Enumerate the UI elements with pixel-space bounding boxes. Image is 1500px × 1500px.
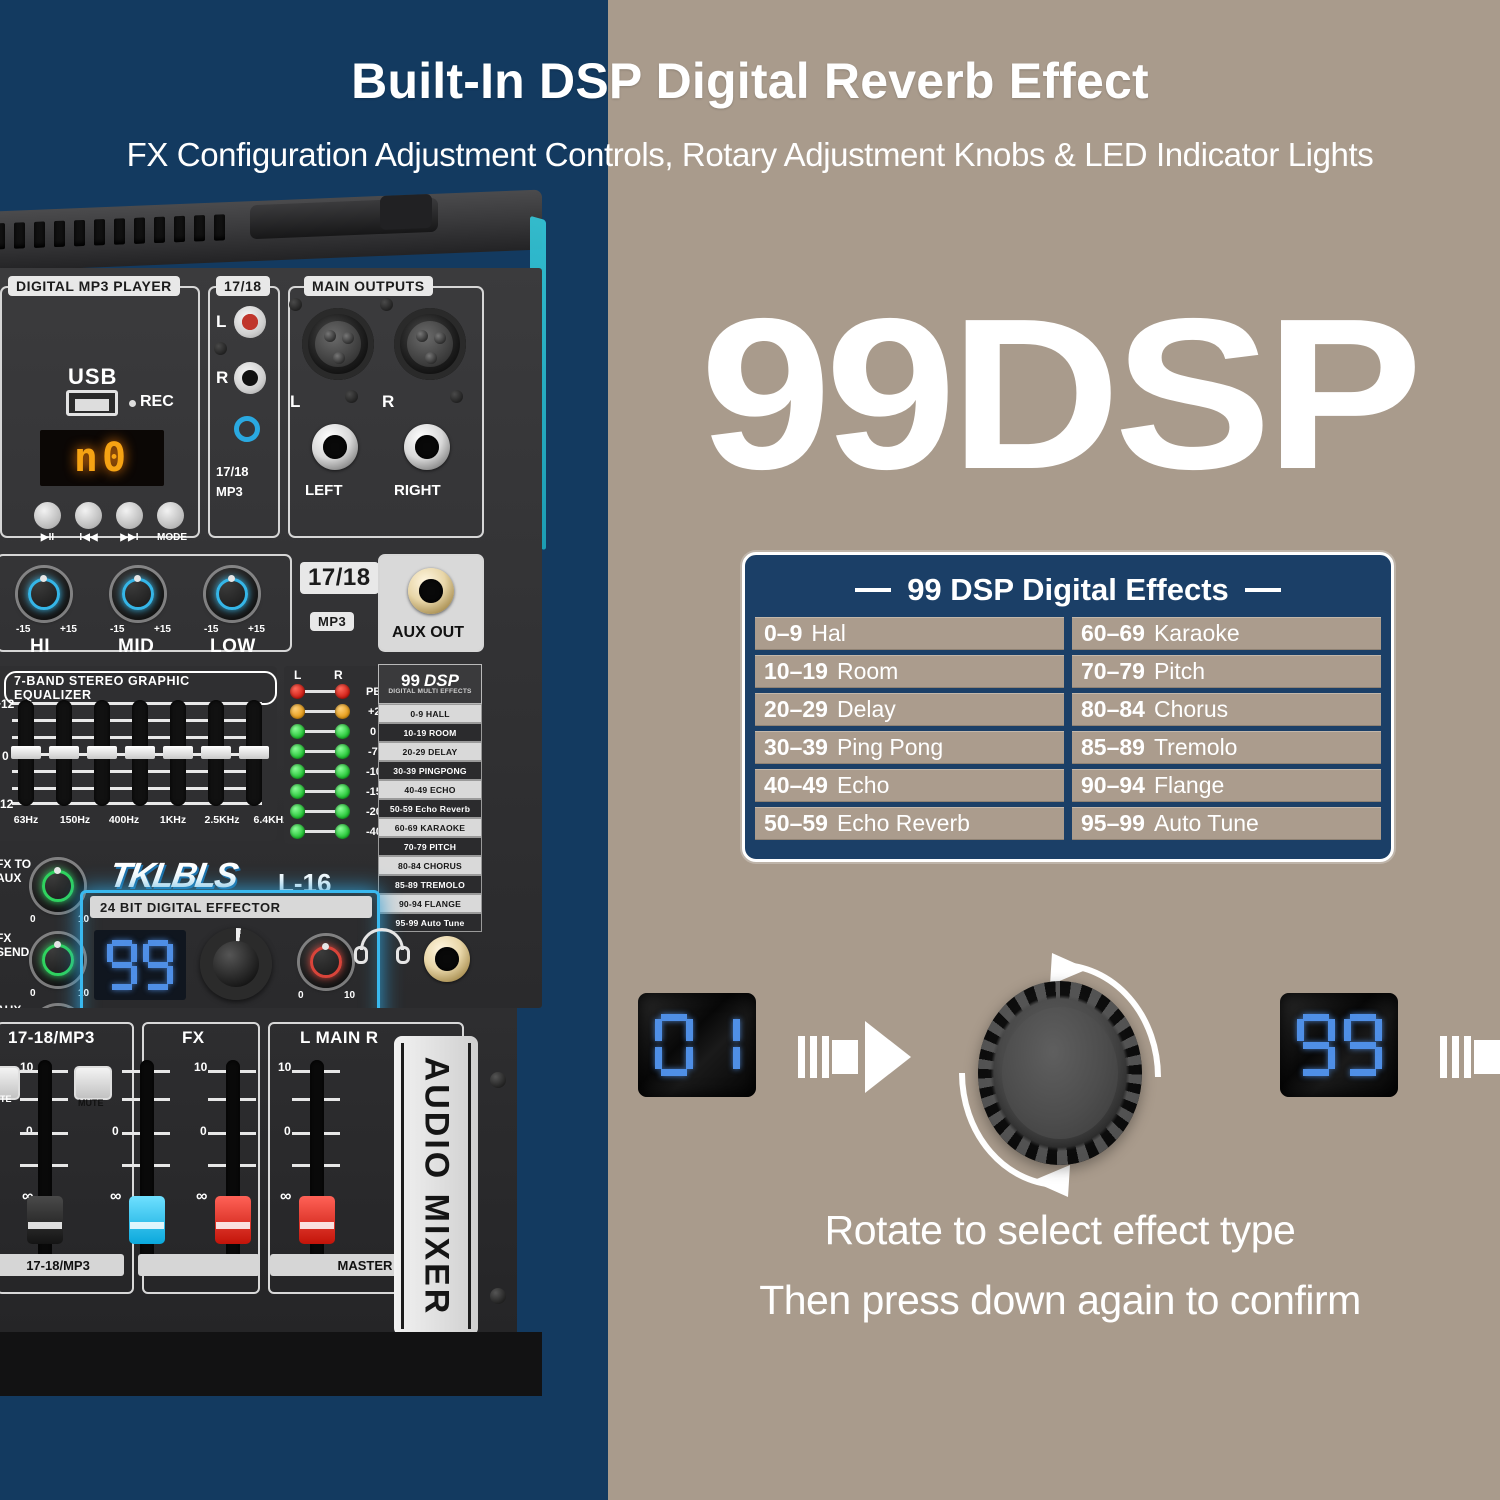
fader-scale-bottom: ∞	[110, 1188, 121, 1206]
rotary-knob-illustration[interactable]	[940, 949, 1180, 1199]
effect-row: 50–59Echo Reverb	[755, 807, 1064, 840]
dsp-legend-item: 10-19 ROOM	[378, 723, 482, 742]
mid-knob-min: -15	[110, 624, 124, 635]
dsp-legend-sub: DIGITAL MULTI EFFECTS	[388, 688, 471, 695]
ventilation-slots-icon	[0, 214, 225, 249]
title-dash-left-icon	[855, 588, 891, 592]
mute-button-ch2[interactable]	[74, 1066, 112, 1100]
fader-scale-bottom: ∞	[280, 1188, 291, 1206]
fader-bottom-label-fx	[138, 1254, 260, 1276]
seg-digit-9a	[107, 940, 137, 990]
program-knob[interactable]	[200, 928, 272, 1000]
fader-scale-mid: 0	[112, 1124, 119, 1138]
phone-knob-max: 10	[344, 990, 355, 1001]
low-knob-label: LOW	[210, 636, 256, 658]
mute-label-ch1: MUTE	[0, 1094, 12, 1104]
fader-cap-main-r[interactable]	[299, 1196, 335, 1244]
panel-screw	[214, 342, 227, 355]
mp3-badge-bottom: MP3	[310, 612, 354, 631]
arrow-right-icon-2	[1440, 1021, 1500, 1093]
eq-freq-label: 150Hz	[55, 814, 95, 826]
fader-group-label-main: L MAIN R	[300, 1028, 378, 1048]
audio-mixer-product-photo: DIGITAL MP3 PLAYER USB REC n0 ▶II I◀◀ ▶▶…	[0, 212, 572, 1392]
effect-row: 70–79Pitch	[1072, 655, 1381, 688]
dsp-legend-word: DSP	[424, 673, 459, 688]
mode-label: MODE	[157, 532, 184, 543]
eq-freq-label: 2.5KHz	[202, 814, 242, 826]
display-after	[1280, 993, 1398, 1097]
effect-name: Ping Pong	[837, 734, 943, 761]
effect-row: 85–89Tremolo	[1072, 731, 1381, 764]
seg-digit-9a	[1297, 1014, 1335, 1076]
eq-freq-label: 1KHz	[153, 814, 193, 826]
fx-send-label-2: SEND	[0, 945, 29, 959]
fader-scale-top: 10	[278, 1060, 291, 1074]
mp3-display-value: n0	[74, 435, 130, 481]
previous-button[interactable]	[75, 502, 102, 529]
effector-display	[94, 930, 186, 1000]
mixer-bottom-edge	[0, 1332, 542, 1396]
effect-range: 0–9	[764, 620, 802, 647]
rca-legend-1718: 17/18	[216, 464, 249, 479]
usb-label: USB	[68, 364, 117, 390]
previous-label: I◀◀	[75, 532, 102, 543]
eq-scale-mid: 0	[2, 749, 9, 763]
seg-digit-9b	[143, 940, 173, 990]
carry-handle[interactable]	[250, 198, 438, 240]
fx-send-label-1: FX	[0, 932, 11, 944]
eq-scale-bottom: -12	[0, 797, 13, 811]
effect-name: Chorus	[1154, 696, 1228, 723]
phone-knob[interactable]	[300, 936, 352, 988]
effect-row: 60–69Karaoke	[1072, 617, 1381, 650]
effect-range: 10–19	[764, 658, 828, 685]
trs-left-jack[interactable]	[312, 424, 358, 470]
eq-slider-6p4khz[interactable]	[208, 700, 224, 806]
fx-to-aux-knob[interactable]	[32, 860, 84, 912]
fader-cap-fx[interactable]	[129, 1196, 165, 1244]
effect-range: 60–69	[1081, 620, 1145, 647]
effector-seven-segment-99	[107, 940, 173, 990]
fx-send-knob[interactable]	[32, 934, 84, 986]
effect-name: Karaoke	[1154, 620, 1240, 647]
main-outputs-label: MAIN OUTPUTS	[304, 276, 433, 296]
seven-segment-01	[655, 1014, 740, 1076]
output-left-jack-label: LEFT	[305, 482, 343, 499]
effect-range: 80–84	[1081, 696, 1145, 723]
mp3-player-label: DIGITAL MP3 PLAYER	[8, 276, 180, 296]
rca-left-label: L	[216, 312, 226, 332]
panel-screw	[380, 298, 393, 311]
effect-name: Tremolo	[1154, 734, 1238, 761]
seg-digit-1	[702, 1014, 740, 1076]
title-dash-right-icon	[1245, 588, 1281, 592]
audio-mixer-side-plate: AUDIO MIXER	[394, 1036, 478, 1336]
seven-segment-99	[1297, 1014, 1382, 1076]
mode-button[interactable]	[157, 502, 184, 529]
blue-indicator-ring	[234, 416, 260, 442]
trs-right-jack[interactable]	[404, 424, 450, 470]
output-left-short-label: L	[290, 392, 300, 412]
rec-label: REC	[140, 393, 174, 411]
fx-to-aux-label-1: FX TO	[0, 858, 31, 870]
usb-port-icon[interactable]	[66, 390, 118, 416]
effect-range: 90–94	[1081, 772, 1145, 799]
effect-range: 85–89	[1081, 734, 1145, 761]
eq-freq-label: 400Hz	[104, 814, 144, 826]
rca-right-jack[interactable]	[234, 362, 266, 394]
hero-99dsp-text: 99DSP	[700, 286, 1500, 506]
play-pause-button[interactable]	[34, 502, 61, 529]
led-scale-label: 0	[370, 726, 376, 738]
led-level-meter: L R PEAK +2 0 -7 -10 -15 -20 -40	[284, 666, 392, 844]
eq-slider-63hz[interactable]	[18, 700, 34, 806]
display-before	[638, 993, 756, 1097]
hi-knob-max: +15	[60, 624, 77, 635]
output-right-jack-label: RIGHT	[394, 482, 441, 499]
rca-left-jack[interactable]	[234, 306, 266, 338]
audio-mixer-plate-text: AUDIO MIXER	[417, 1056, 456, 1316]
led-left-label: L	[294, 668, 301, 682]
effect-name: Flange	[1154, 772, 1224, 799]
effect-row: 80–84Chorus	[1072, 693, 1381, 726]
effect-name: Hal	[811, 620, 846, 647]
led-scale-label: -7	[368, 746, 378, 758]
page-subtitle: FX Configuration Adjustment Controls, Ro…	[0, 136, 1500, 174]
dsp-effects-legend-panel: 99 DSP DIGITAL MULTI EFFECTS 0-9 HALL 10…	[378, 664, 482, 932]
fader-scale-top: 10	[194, 1060, 207, 1074]
panel-screw	[450, 390, 463, 403]
phone-knob-min: 0	[298, 990, 304, 1001]
eq-slider-150hz[interactable]	[56, 700, 72, 806]
mid-knob-max: +15	[154, 624, 171, 635]
panel-screw	[490, 1072, 506, 1088]
fx-to-aux-min: 0	[30, 914, 36, 925]
fader-cap-main-l[interactable]	[215, 1196, 251, 1244]
arrow-right-icon	[798, 1021, 911, 1093]
page-title: Built-In DSP Digital Reverb Effect	[0, 52, 1500, 110]
effect-row: 30–39Ping Pong	[755, 731, 1064, 764]
panel-screw	[345, 390, 358, 403]
low-knob-max: +15	[248, 624, 265, 635]
effect-name: Delay	[837, 696, 896, 723]
rca-legend-mp3: MP3	[216, 484, 243, 499]
eq-slider-1khz[interactable]	[132, 700, 148, 806]
rotary-instruction-section: Rotate to select effect type Then press …	[620, 955, 1500, 1205]
rec-dot-icon	[129, 400, 136, 407]
panel-screw	[289, 298, 302, 311]
effect-name: Echo Reverb	[837, 810, 970, 837]
instruction-line-2: Then press down again to confirm	[620, 1277, 1500, 1324]
dsp-legend-item: 0-9 HALL	[378, 704, 482, 723]
effect-name: Room	[837, 658, 898, 685]
effect-row: 20–29Delay	[755, 693, 1064, 726]
mp3-transport-buttons[interactable]	[34, 502, 184, 529]
fader-scale-mid: 0	[200, 1124, 207, 1138]
seg-digit-0	[655, 1014, 693, 1076]
aux-out-label: AUX OUT	[392, 624, 464, 642]
hi-knob[interactable]	[18, 568, 70, 620]
mp3-transport-labels: ▶II I◀◀ ▶▶I MODE	[34, 532, 184, 543]
effect-row: 95–99Auto Tune	[1072, 807, 1381, 840]
dsp-effects-card-title: 99 DSP Digital Effects	[755, 563, 1381, 617]
fader-cap-ch1[interactable]	[27, 1196, 63, 1244]
low-knob-min: -15	[204, 624, 218, 635]
effect-name: Auto Tune	[1154, 810, 1259, 837]
panel-screw	[490, 1288, 506, 1304]
mp3-badge-top: 17/18	[300, 562, 379, 594]
mid-knob[interactable]	[112, 568, 164, 620]
effector-title-bar: 24 BIT DIGITAL EFFECTOR	[90, 896, 372, 918]
dsp-legend-item: 60-69 KARAOKE	[378, 818, 482, 837]
effect-range: 30–39	[764, 734, 828, 761]
dsp-legend-item: 80-84 CHORUS	[378, 856, 482, 875]
effect-row: 10–19Room	[755, 655, 1064, 688]
aux-out-jack[interactable]	[408, 568, 454, 614]
led-right-label: R	[334, 668, 343, 682]
mid-knob-label: MID	[118, 636, 154, 658]
fader-scale-bottom: ∞	[196, 1188, 207, 1206]
effect-row: 40–49Echo	[755, 769, 1064, 802]
xlr-right-connector[interactable]	[394, 308, 466, 380]
low-knob[interactable]	[206, 568, 258, 620]
fader-group-label-1718mp3: 17-18/MP3	[8, 1028, 95, 1048]
mp3-display: n0	[40, 430, 164, 486]
dsp-legend-item: 50-59 Echo Reverb	[378, 799, 482, 818]
rca-right-label: R	[216, 368, 228, 388]
dsp-effects-card: 99 DSP Digital Effects 0–9Hal 60–69Karao…	[742, 552, 1394, 862]
output-right-short-label: R	[382, 392, 394, 412]
dsp-legend-number: 99	[401, 673, 420, 688]
mute-label-ch2: MUTE	[78, 1098, 104, 1108]
eq-slider-2p5khz[interactable]	[170, 700, 186, 806]
dsp-legend-item: 70-79 PITCH	[378, 837, 482, 856]
effect-range: 20–29	[764, 696, 828, 723]
next-label: ▶▶I	[116, 532, 143, 543]
graphic-equalizer-panel: 7-BAND STEREO GRAPHIC EQUALIZER +12	[0, 666, 277, 841]
mixer-top-face: DIGITAL MP3 PLAYER USB REC n0 ▶II I◀◀ ▶▶…	[0, 268, 542, 1008]
fader-bottom-label-1718mp3: 17-18/MP3	[0, 1254, 124, 1276]
effect-range: 70–79	[1081, 658, 1145, 685]
dsp-legend-item: 40-49 ECHO	[378, 780, 482, 799]
dsp-legend-item: 85-89 TREMOLO	[378, 875, 482, 894]
effect-range: 50–59	[764, 810, 828, 837]
effect-name: Pitch	[1154, 658, 1205, 685]
dsp-legend-item: 90-94 FLANGE	[378, 894, 482, 913]
dsp-legend-item: 20-29 DELAY	[378, 742, 482, 761]
next-button[interactable]	[116, 502, 143, 529]
fader-group-label-fx: FX	[182, 1028, 205, 1048]
xlr-left-connector[interactable]	[302, 308, 374, 380]
dsp-legend-item: 30-39 PINGPONG	[378, 761, 482, 780]
effect-row: 90–94Flange	[1072, 769, 1381, 802]
effect-range: 40–49	[764, 772, 828, 799]
rca-1718-label: 17/18	[216, 276, 270, 296]
headphone-jack[interactable]	[424, 936, 470, 982]
eq-slider-400hz[interactable]	[94, 700, 110, 806]
fx-send-min: 0	[30, 988, 36, 999]
equalizer-sliders[interactable]	[18, 700, 262, 806]
fader-scale-mid: 0	[26, 1124, 33, 1138]
effect-range: 95–99	[1081, 810, 1145, 837]
dsp-effects-grid: 0–9Hal 60–69Karaoke 10–19Room 70–79Pitch…	[755, 617, 1381, 840]
instruction-line-1: Rotate to select effect type	[620, 1207, 1500, 1254]
eq-freq-label: 63Hz	[6, 814, 46, 826]
effect-row: 0–9Hal	[755, 617, 1064, 650]
fader-scale-mid: 0	[284, 1124, 291, 1138]
eq-slider-15khz[interactable]	[246, 700, 262, 806]
dsp-effects-title-text: 99 DSP Digital Effects	[907, 572, 1229, 608]
header: Built-In DSP Digital Reverb Effect FX Co…	[0, 0, 1500, 200]
poster-stage: Built-In DSP Digital Reverb Effect FX Co…	[0, 0, 1500, 1500]
headphone-icon	[354, 928, 410, 968]
play-pause-label: ▶II	[34, 532, 61, 543]
hi-knob-label: HI	[30, 636, 50, 658]
knob-cap	[1002, 1007, 1118, 1139]
fx-to-aux-label-2: AUX	[0, 871, 21, 885]
seg-digit-9b	[1344, 1014, 1382, 1076]
eq-scale-top: +12	[0, 697, 14, 711]
hi-knob-min: -15	[16, 624, 30, 635]
dsp-legend-badge: 99 DSP DIGITAL MULTI EFFECTS	[378, 664, 482, 704]
effect-name: Echo	[837, 772, 889, 799]
